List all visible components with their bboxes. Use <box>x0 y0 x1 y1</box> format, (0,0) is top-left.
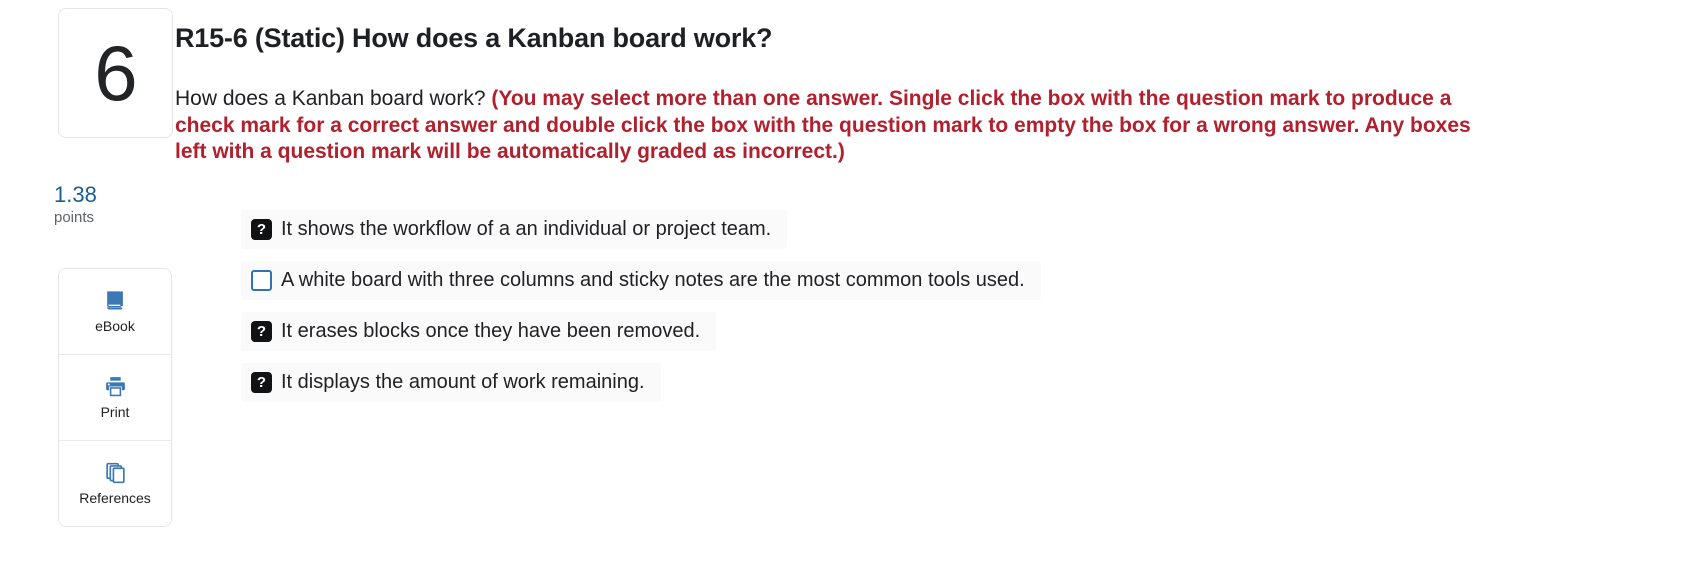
option-wrapper: ? It shows the workflow of a an individu… <box>241 210 1670 261</box>
answer-option-3-label: It erases blocks once they have been rem… <box>281 318 700 345</box>
question-sidebar: 6 1.38 points eBook <box>0 0 175 527</box>
answer-option-1-label: It shows the workflow of a an individual… <box>281 216 771 243</box>
answer-option-1[interactable]: ? It shows the workflow of a an individu… <box>241 210 787 249</box>
answer-options: ? It shows the workflow of a an individu… <box>175 210 1670 414</box>
answer-option-3[interactable]: ? It erases blocks once they have been r… <box>241 312 716 351</box>
question-page: 6 1.38 points eBook <box>0 0 1690 568</box>
points-block: 1.38 points <box>54 182 175 230</box>
question-content: R15-6 (Static) How does a Kanban board w… <box>175 0 1690 414</box>
question-mark-box-icon[interactable]: ? <box>251 372 272 393</box>
answer-option-2-label: A white board with three columns and sti… <box>281 267 1025 294</box>
references-label: References <box>79 490 151 507</box>
copy-pages-icon <box>102 460 128 486</box>
points-label: points <box>54 207 175 230</box>
empty-checkbox-icon[interactable] <box>251 270 272 291</box>
option-wrapper: ? It erases blocks once they have been r… <box>241 312 1670 363</box>
question-stem: How does a Kanban board work? <box>175 87 491 110</box>
print-button[interactable]: Print <box>59 355 171 441</box>
answer-option-4[interactable]: ? It displays the amount of work remaini… <box>241 363 661 402</box>
question-number-card: 6 <box>58 8 173 138</box>
references-button[interactable]: References <box>59 441 171 526</box>
question-number: 6 <box>94 34 136 112</box>
question-prompt: How does a Kanban board work? (You may s… <box>175 86 1490 165</box>
question-mark-box-icon[interactable]: ? <box>251 321 272 342</box>
answer-option-4-label: It displays the amount of work remaining… <box>281 369 645 396</box>
option-wrapper: A white board with three columns and sti… <box>241 261 1670 312</box>
answer-option-2[interactable]: A white board with three columns and sti… <box>241 261 1041 300</box>
book-icon <box>102 288 128 314</box>
question-mark-box-icon[interactable]: ? <box>251 219 272 240</box>
option-wrapper: ? It displays the amount of work remaini… <box>241 363 1670 414</box>
page-title: R15-6 (Static) How does a Kanban board w… <box>175 22 1670 54</box>
ebook-button[interactable]: eBook <box>59 269 171 355</box>
points-value: 1.38 <box>54 182 175 207</box>
print-label: Print <box>101 404 130 421</box>
tool-panel: eBook Print <box>58 268 172 527</box>
printer-icon <box>102 374 128 400</box>
ebook-label: eBook <box>95 318 135 335</box>
